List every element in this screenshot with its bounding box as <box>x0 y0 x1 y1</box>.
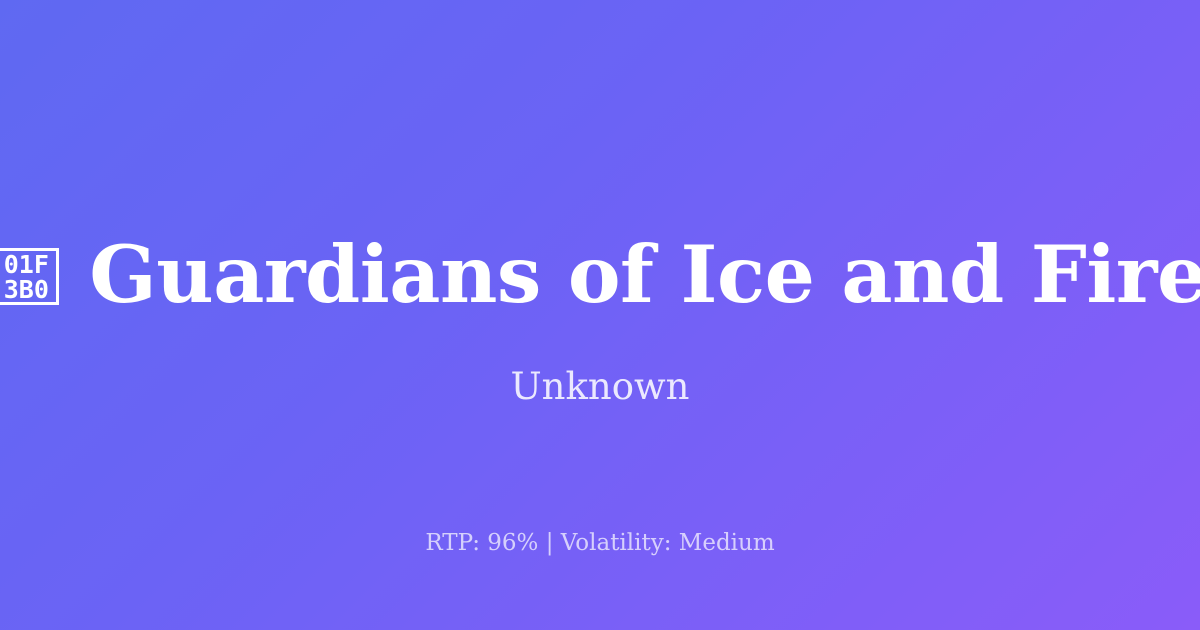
tofu-codepoint-top: 01F <box>4 252 49 277</box>
slot-machine-emoji-tofu-icon: 01F 3B0 <box>0 248 59 305</box>
card-meta-line: RTP: 96% | Volatility: Medium <box>0 527 1200 559</box>
tofu-codepoint-bottom: 3B0 <box>4 277 49 302</box>
card-subtitle: Unknown <box>0 363 1200 411</box>
page-title: Guardians of Ice and Fire <box>89 225 1200 325</box>
social-share-card: 01F 3B0 Guardians of Ice and Fire Unknow… <box>0 0 1200 630</box>
title-row: 01F 3B0 Guardians of Ice and Fire <box>0 225 1200 325</box>
